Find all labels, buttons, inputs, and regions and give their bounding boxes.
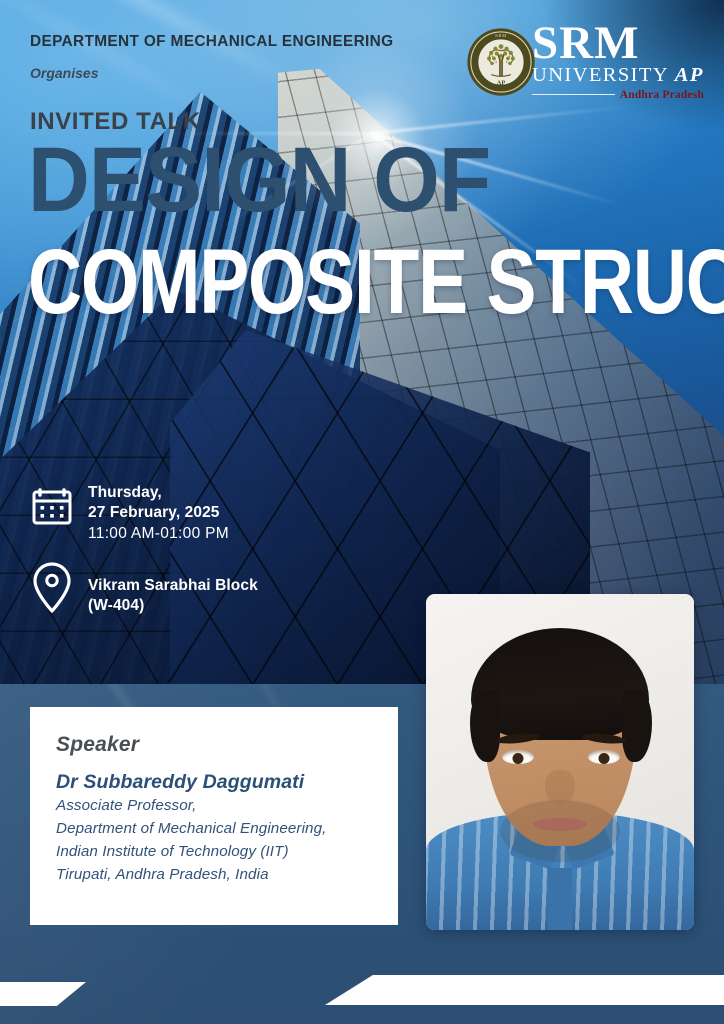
srm-state-row: Andhra Pradesh (532, 89, 704, 101)
photo-eye-left (502, 750, 534, 764)
photo-placket (548, 868, 572, 930)
venue-line-2: (W-404) (88, 596, 258, 616)
poster-root: DEPARTMENT OF MECHANICAL ENGINEERING Org… (0, 0, 724, 1024)
svg-text:SRM: SRM (495, 33, 507, 38)
venue-row: Vikram Sarabhai Block (W-404) (30, 560, 258, 621)
event-date: 27 February, 2025 (88, 503, 229, 523)
calendar-icon-wrap (30, 483, 82, 532)
speaker-card: Speaker Dr Subbareddy Daggumati Associat… (30, 707, 398, 925)
srm-wordmark: SRM UNIVERSITY AP Andhra Pradesh (532, 20, 704, 101)
svg-text:AP: AP (497, 79, 506, 86)
srm-university-text: UNIVERSITY AP (532, 65, 704, 86)
event-title-line-1: DESIGN OF (28, 140, 490, 221)
speaker-designation: Associate Professor, (56, 794, 372, 817)
srm-university-word: UNIVERSITY (532, 64, 668, 86)
photo-eye-right (588, 750, 620, 764)
venue-text-block: Vikram Sarabhai Block (W-404) (82, 560, 258, 616)
department-title: DEPARTMENT OF MECHANICAL ENGINEERING (30, 33, 393, 51)
venue-line-1: Vikram Sarabhai Block (88, 560, 258, 596)
event-day: Thursday, (88, 483, 229, 503)
srm-state-text: Andhra Pradesh (620, 89, 704, 101)
event-title-line-2: COMPOSITE STRUCTURES (28, 242, 724, 323)
logo-divider-rule (532, 94, 615, 95)
photo-pupil-left (513, 753, 524, 764)
photo-jaw-shadow (500, 800, 620, 862)
photo-mouth (533, 818, 587, 831)
speaker-label: Speaker (56, 733, 372, 757)
speaker-department: Department of Mechanical Engineering, (56, 817, 372, 840)
event-time: 11:00 AM-01:00 PM (88, 523, 229, 545)
srm-brand-text: SRM (532, 20, 704, 67)
date-text-block: Thursday, 27 February, 2025 11:00 AM-01:… (82, 483, 229, 544)
srm-seal-emblem: AP SRM (466, 27, 536, 97)
bottom-chevron-right (325, 975, 724, 1005)
organises-label: Organises (30, 65, 98, 81)
poster-header: DEPARTMENT OF MECHANICAL ENGINEERING Org… (0, 0, 724, 110)
location-icon-wrap (30, 560, 82, 621)
speaker-name: Dr Subbareddy Daggumati (56, 771, 372, 794)
photo-nose (545, 770, 575, 804)
photo-pupil-right (599, 753, 610, 764)
speaker-institute: Indian Institute of Technology (IIT) (56, 840, 372, 863)
speaker-location: Tirupati, Andhra Pradesh, India (56, 863, 372, 886)
calendar-icon (30, 483, 74, 527)
speaker-photo (426, 594, 694, 930)
photo-hair-side-left (470, 690, 500, 762)
srm-university-logo: AP SRM SRM UNIVERSITY AP Andhra Pradesh (466, 24, 702, 102)
location-pin-icon (30, 560, 74, 616)
date-row: Thursday, 27 February, 2025 11:00 AM-01:… (30, 483, 229, 544)
srm-ap-word: AP (675, 64, 704, 86)
